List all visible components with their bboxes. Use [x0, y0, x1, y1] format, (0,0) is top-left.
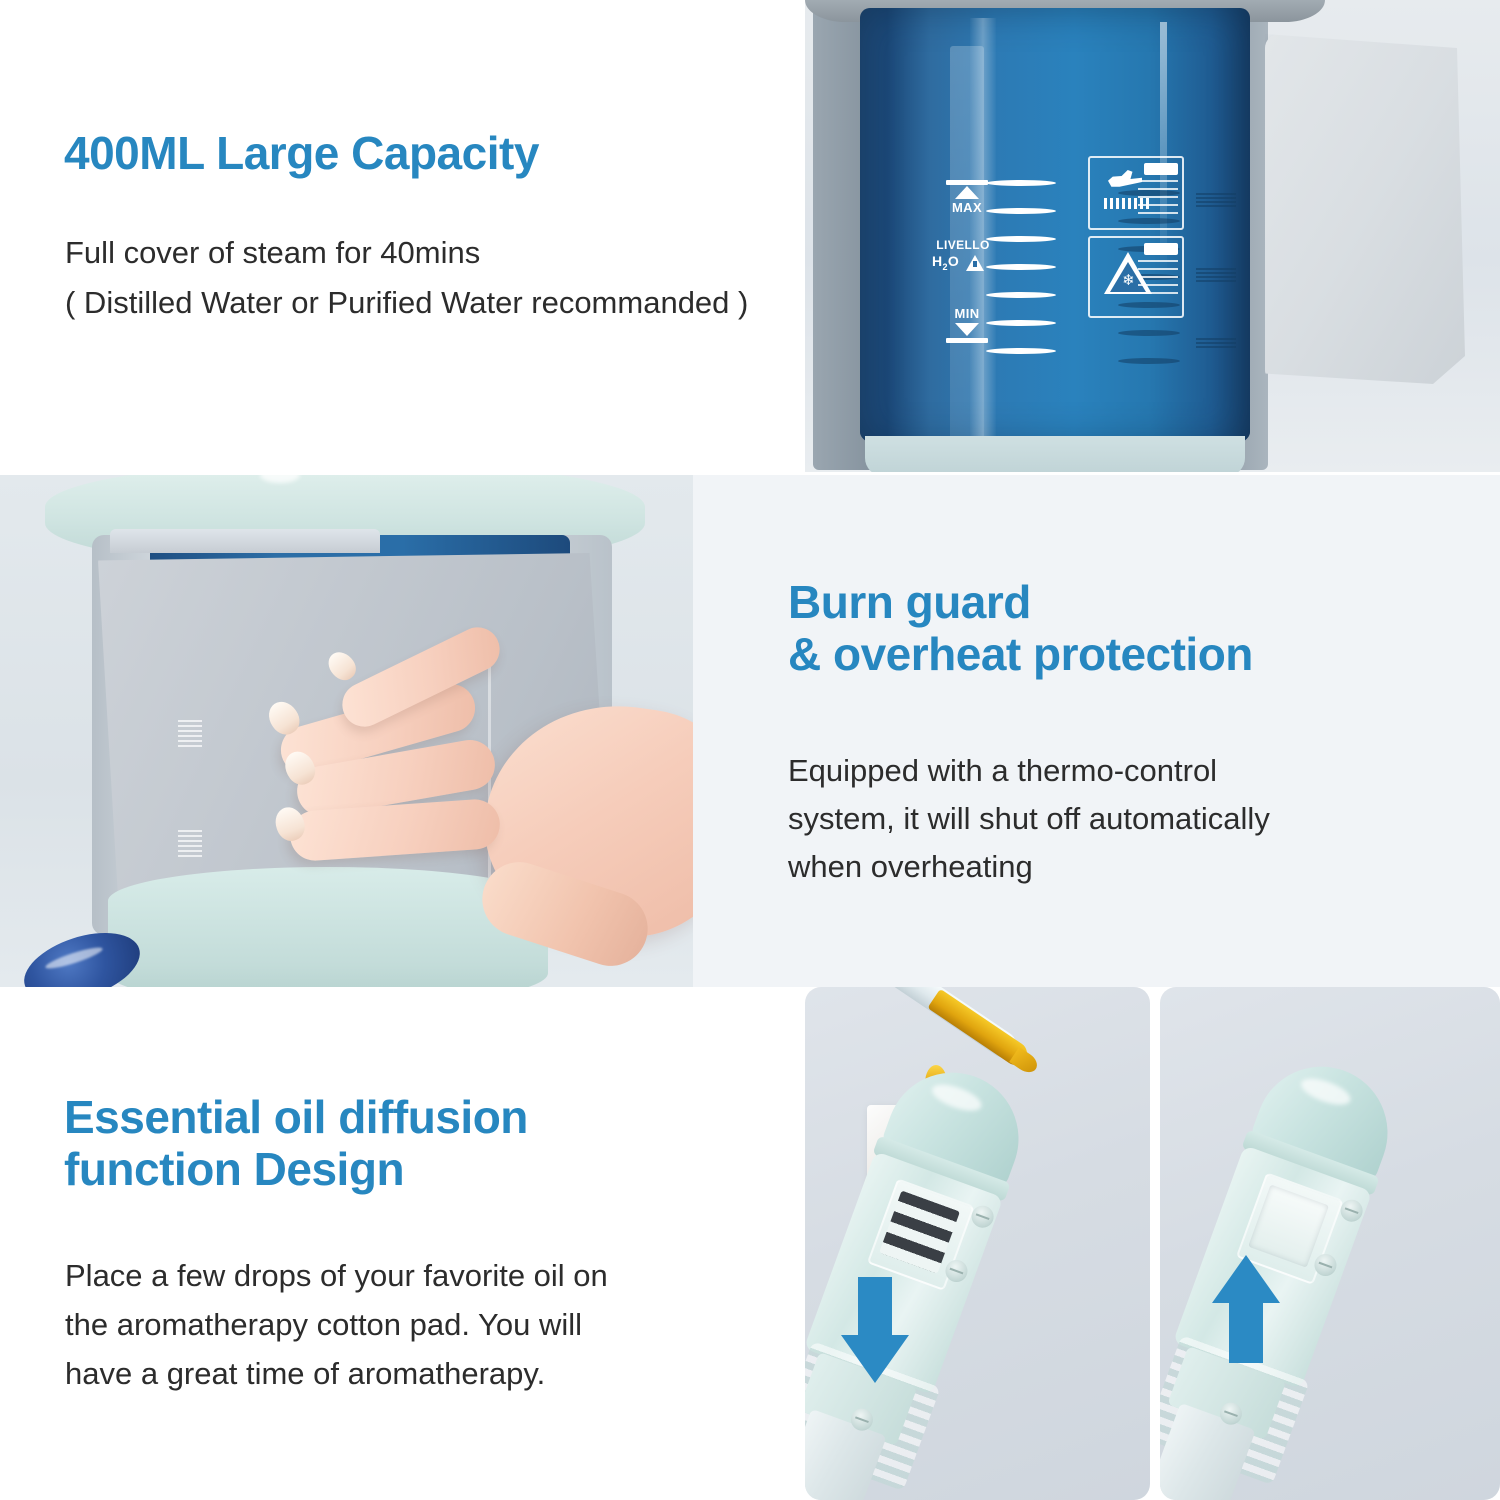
oil-diffusion-body: Place a few drops of your favorite oil o…: [65, 1252, 608, 1399]
tank-printed-icon-3: [1196, 338, 1236, 350]
warning-label-hand: [1088, 156, 1184, 230]
guard-top-lip: [110, 529, 380, 553]
warning-badge-2: [1144, 243, 1178, 255]
stick-cap-highlight: [1298, 1073, 1354, 1110]
sticker-icon-2: [178, 830, 202, 860]
water-tank-photo: MAX LIVELLO H2O MIN: [805, 0, 1500, 472]
diffuser-photo-assembled: [1160, 987, 1500, 1500]
blue-water-tank: MAX LIVELLO H2O MIN: [860, 8, 1250, 446]
sticker-icon-1: [178, 720, 202, 750]
cap-highlight: [260, 475, 300, 483]
max-bar: [946, 180, 988, 185]
warning-badge-1: [1144, 163, 1178, 175]
white-wave-graphics: [986, 50, 1056, 440]
oil-diffusion-heading: Essential oil diffusion function Design: [64, 1092, 528, 1195]
water-warning-icon: [966, 255, 984, 271]
tank-printed-icon-2: [1196, 268, 1236, 284]
tank-base: [865, 436, 1245, 472]
tank-printed-icon-1: [1196, 193, 1236, 209]
burn-guard-photo: [0, 475, 693, 987]
warning-text-lines-1: [1138, 180, 1178, 214]
feature-panel-burn-guard: Burn guard & overheat protection Equippe…: [693, 475, 1500, 987]
capacity-heading: 400ML Large Capacity: [64, 128, 539, 180]
feature-panel-capacity: 400ML Large Capacity Full cover of steam…: [0, 0, 805, 472]
min-bar: [946, 338, 988, 343]
warning-label-snowflake: ❄: [1088, 236, 1184, 318]
capacity-body: Full cover of steam for 40mins ( Distill…: [65, 228, 748, 328]
stick-cap-highlight: [929, 1079, 985, 1116]
tank-sticker: [178, 720, 204, 880]
feature-panel-oil-diffusion: Essential oil diffusion function Design …: [0, 987, 805, 1500]
min-arrow-icon: [955, 323, 979, 336]
nail-pinky: [323, 647, 361, 685]
product-feature-infographic: 400ML Large Capacity Full cover of steam…: [0, 0, 1500, 1500]
burn-guard-heading: Burn guard & overheat protection: [788, 577, 1253, 680]
warning-text-lines-2: [1138, 260, 1178, 294]
burn-guard-body: Equipped with a thermo-control system, i…: [788, 747, 1270, 891]
oil-diffusion-photo: [805, 987, 1500, 1500]
burn-guard-flap: [1265, 34, 1465, 384]
diffuser-photo-insert: [805, 987, 1150, 1500]
human-hand: [218, 645, 693, 987]
max-arrow-icon: [955, 186, 979, 199]
diffuser-stick-closed: [1160, 1045, 1415, 1500]
